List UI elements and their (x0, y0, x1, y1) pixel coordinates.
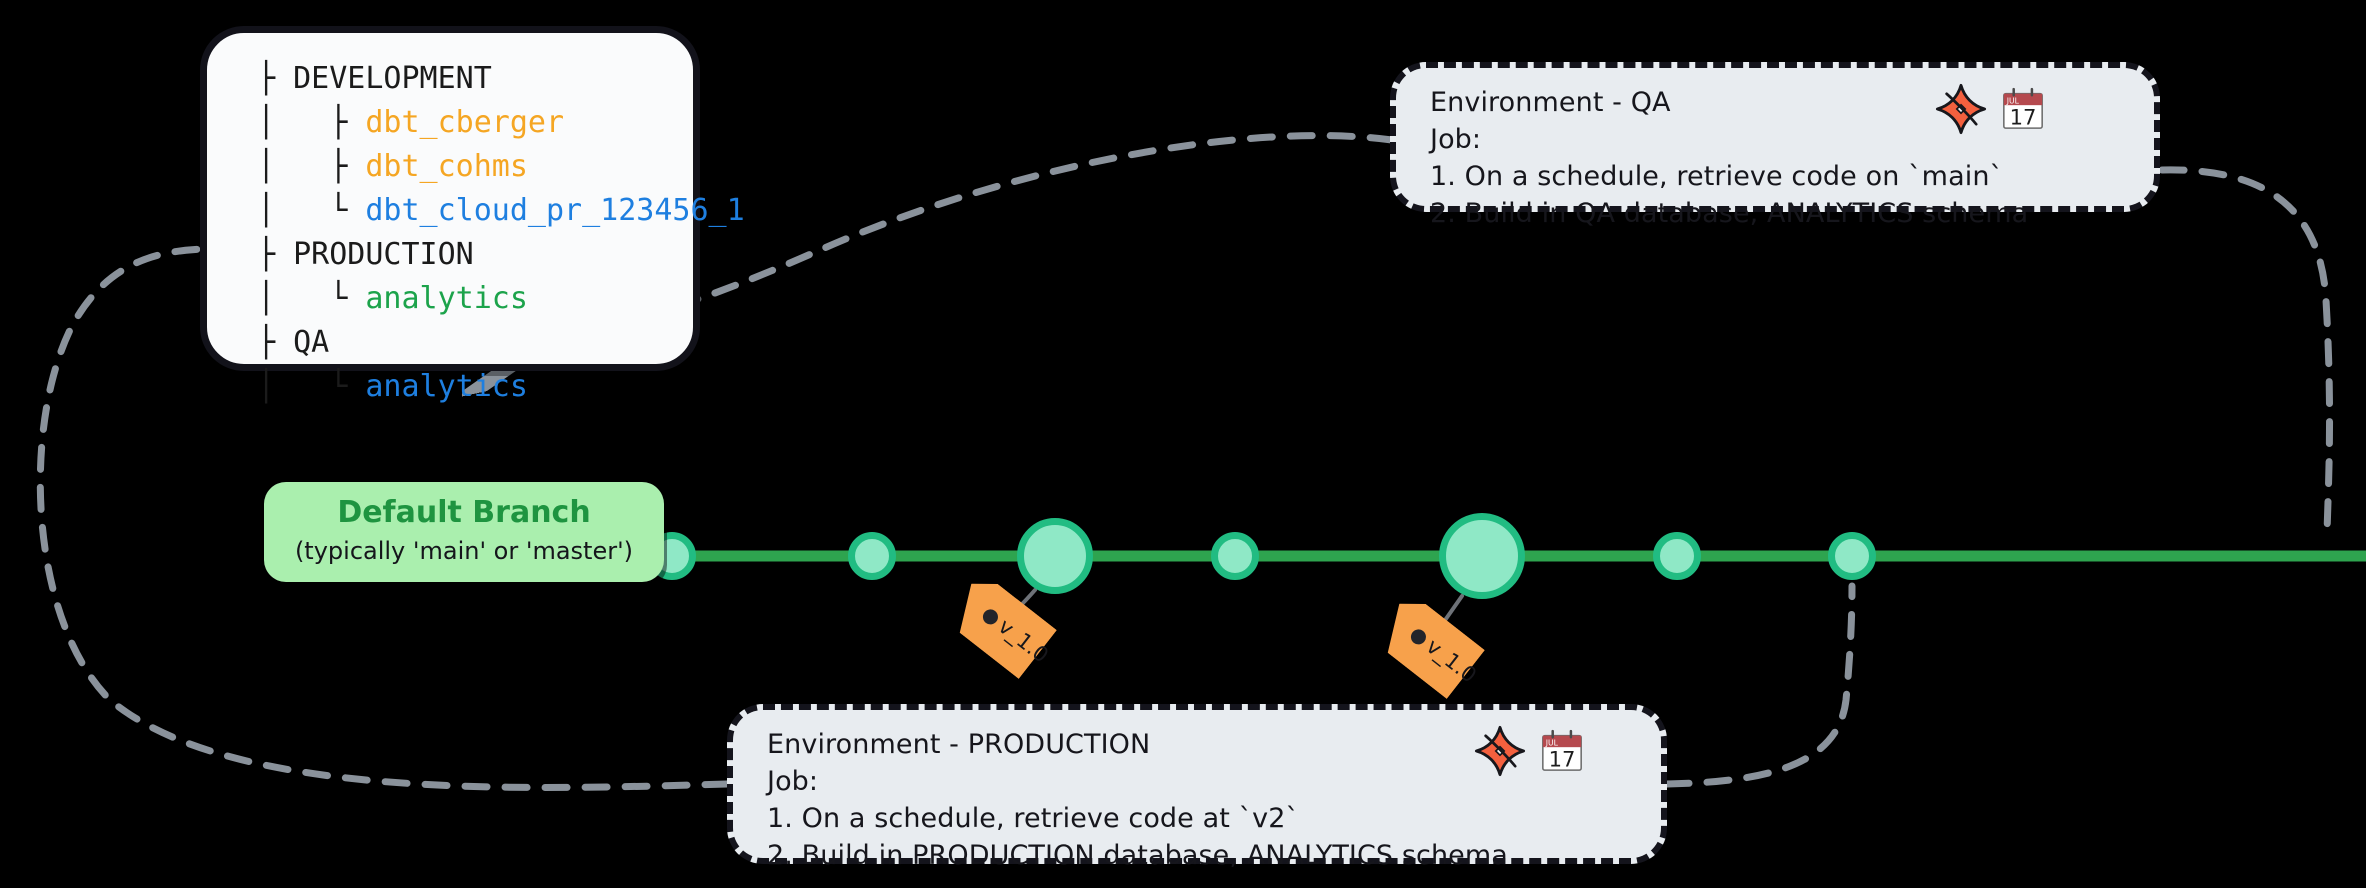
tree-row: │ ├ dbt_cberger (257, 101, 745, 145)
tree-row-label[interactable]: QA (293, 325, 329, 360)
version-tag[interactable]: v_1.0 (1371, 591, 1485, 699)
tree-row-prefix: │ └ (257, 193, 365, 228)
tree-row: ├ PRODUCTION (257, 233, 745, 277)
tree-row-label[interactable]: dbt_cohms (365, 149, 528, 184)
commit-node[interactable] (1828, 532, 1876, 580)
environment-card-production[interactable]: Environment - PRODUCTION Job: 1. On a sc… (727, 704, 1667, 864)
commit-node[interactable] (1017, 518, 1093, 594)
tree-row-label[interactable]: analytics (365, 369, 528, 404)
environment-card-qa[interactable]: Environment - QA Job: 1. On a schedule, … (1390, 62, 2160, 212)
tree-row-prefix: │ ├ (257, 149, 365, 184)
tree-row-prefix: ├ (257, 61, 293, 96)
diagram-canvas: v_1.0v_1.0 ├ DEVELOPMENT│ ├ dbt_cberger│… (0, 0, 2366, 888)
env-qa-step-2: 2. Build in QA database, ANALYTICS schem… (1430, 195, 2134, 232)
tree-row-label[interactable]: DEVELOPMENT (293, 61, 492, 96)
version-tag-hole (980, 606, 1001, 627)
tree-row-label[interactable]: PRODUCTION (293, 237, 474, 272)
tree-row-prefix: │ └ (257, 281, 365, 316)
calendar-day-label: 17 (2010, 104, 2037, 129)
commit-node[interactable] (848, 532, 896, 580)
tree-row: ├ QA (257, 321, 745, 365)
env-prod-icons: JUL 17 (1473, 724, 1585, 778)
edge-production-card-to-v2-commit (1667, 586, 1852, 784)
tree-row-label[interactable]: dbt_cloud_pr_123456_1 (365, 193, 744, 228)
tree-row: │ └ dbt_cloud_pr_123456_1 (257, 189, 745, 233)
tree-row-prefix: ├ (257, 237, 293, 272)
tree-row-label[interactable]: analytics (365, 281, 528, 316)
version-tag-hole (1408, 626, 1429, 647)
commit-node[interactable] (1653, 532, 1701, 580)
env-prod-step-1: 1. On a schedule, retrieve code at `v2` (767, 800, 1641, 837)
calendar-day-label: 17 (1549, 746, 1576, 771)
default-branch-title: Default Branch (264, 492, 664, 534)
tree-row-prefix: │ ├ (257, 105, 365, 140)
dbt-shuriken-icon (1934, 82, 1988, 136)
tree-row-prefix: │ └ (257, 369, 365, 404)
tree-row: ├ DEVELOPMENT (257, 57, 745, 101)
env-prod-step-2: 2. Build in PRODUCTION database, ANALYTI… (767, 837, 1641, 874)
commit-node[interactable] (1439, 513, 1525, 599)
default-branch-subtitle: (typically 'main' or 'master') (264, 534, 664, 568)
commit-node[interactable] (1211, 532, 1259, 580)
dbt-shuriken-icon (1473, 724, 1527, 778)
calendar-icon: JUL 17 (2000, 86, 2046, 132)
tree-row-prefix: ├ (257, 325, 293, 360)
tree-row: │ └ analytics (257, 365, 745, 409)
tree-row-label[interactable]: dbt_cberger (365, 105, 564, 140)
env-qa-step-1: 1. On a schedule, retrieve code on `main… (1430, 158, 2134, 195)
tree-row: │ ├ dbt_cohms (257, 145, 745, 189)
default-branch-label: Default Branch (typically 'main' or 'mas… (264, 482, 664, 582)
environments-tree-card: ├ DEVELOPMENT│ ├ dbt_cberger│ ├ dbt_cohm… (200, 26, 700, 371)
calendar-icon: JUL 17 (1539, 728, 1585, 774)
environments-tree: ├ DEVELOPMENT│ ├ dbt_cberger│ ├ dbt_cohm… (257, 57, 745, 409)
edge-qa-card-to-latest-commit (2162, 170, 2330, 532)
env-qa-icons: JUL 17 (1934, 82, 2046, 136)
tree-row: │ └ analytics (257, 277, 745, 321)
